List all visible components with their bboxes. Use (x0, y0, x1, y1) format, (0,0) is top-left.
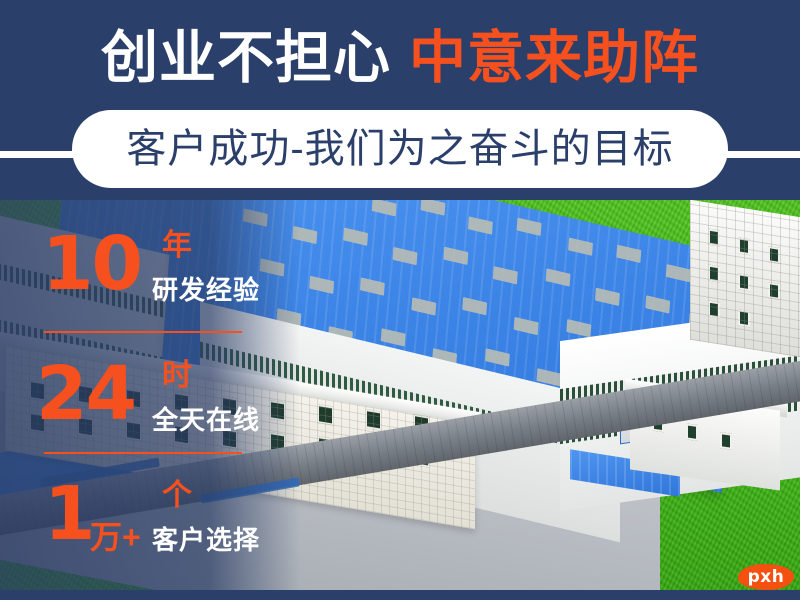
promo-banner: 创业不担心中意来助阵 客户成功-我们为之奋斗的目标 (0, 0, 800, 600)
headline: 创业不担心中意来助阵 (0, 22, 800, 94)
side-office-building (690, 200, 800, 360)
stat-item: 24 时 全天在线 (14, 343, 282, 455)
pxh-badge-label: pxh (748, 567, 785, 587)
stat-item: 1 万+ 个 客户选择 (14, 463, 282, 575)
pxh-watermark-badge: pxh (738, 564, 794, 590)
stat-description: 全天在线 (152, 407, 260, 433)
stat-item: 10 年 研发经验 (14, 213, 282, 325)
stat-suffix: 万+ (90, 521, 141, 553)
headline-white-text: 创业不担心 (101, 26, 391, 90)
stat-value: 1 (44, 477, 94, 551)
banner-header: 创业不担心中意来助阵 客户成功-我们为之奋斗的目标 (0, 0, 800, 200)
stat-unit: 时 (162, 361, 192, 391)
stat-value: 24 (36, 357, 135, 431)
stat-unit: 个 (162, 481, 192, 511)
headline-orange-text: 中意来助阵 (409, 26, 699, 90)
subtitle-pill: 客户成功-我们为之奋斗的目标 (72, 110, 728, 188)
stat-value: 10 (42, 227, 141, 301)
stat-divider (44, 331, 242, 333)
stats-panel: 10 年 研发经验 24 时 全天在线 1 万+ 个 客户选择 (14, 205, 282, 580)
decorative-rule-right (726, 151, 800, 158)
subtitle-text: 客户成功-我们为之奋斗的目标 (126, 129, 673, 169)
bottom-strip (0, 590, 800, 600)
stat-unit: 年 (162, 231, 192, 261)
stat-description: 客户选择 (152, 527, 260, 553)
decorative-rule-left (0, 151, 74, 158)
stat-divider (44, 452, 242, 454)
stat-description: 研发经验 (152, 277, 260, 303)
